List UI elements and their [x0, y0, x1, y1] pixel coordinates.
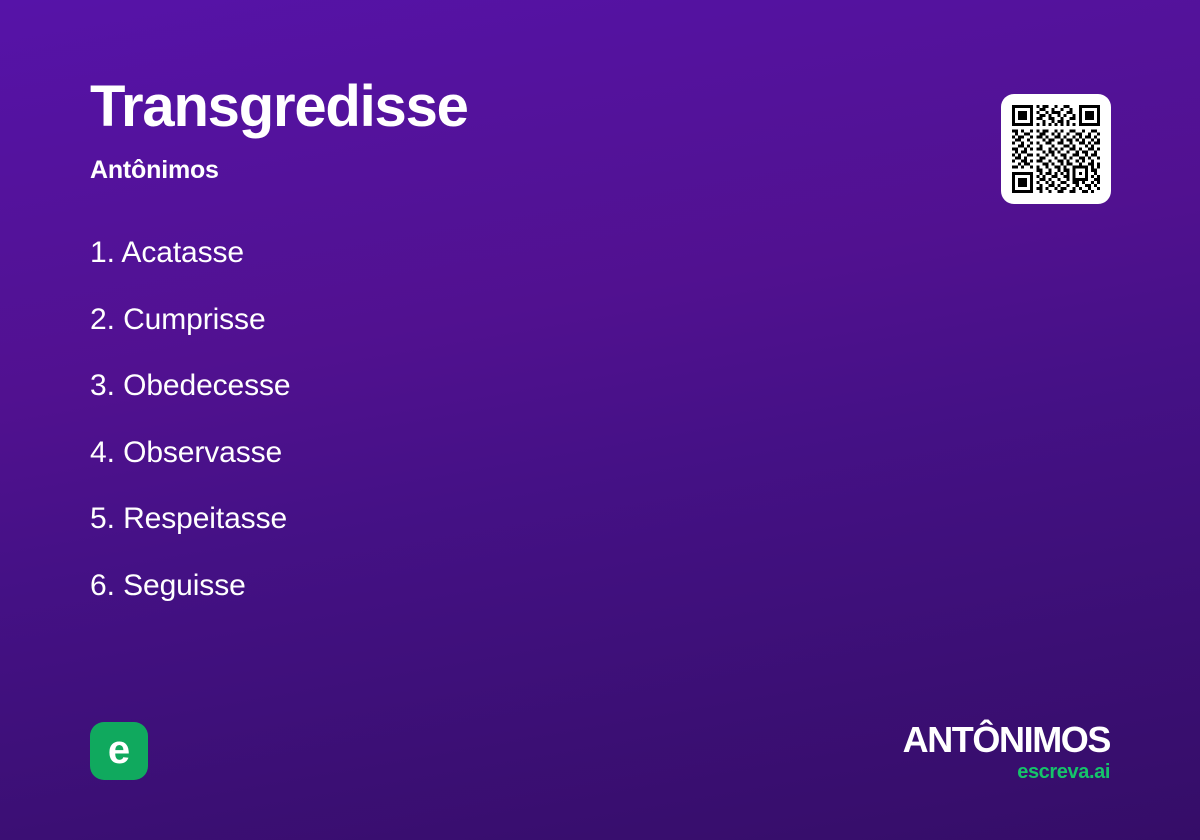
antonyms-card: Transgredisse Antônimos	[0, 0, 1200, 840]
page-subtitle: Antônimos	[90, 158, 950, 183]
footer-brand-domain: escreva.ai	[903, 762, 1110, 782]
list-item-word: Respeitasse	[123, 502, 287, 535]
list-item: 2. Cumprisse	[90, 305, 950, 372]
escreva-logo-letter: e	[90, 722, 148, 780]
list-item: 4. Observasse	[90, 438, 950, 505]
list-item-index: 4.	[90, 436, 115, 469]
header-block: Transgredisse Antônimos	[90, 78, 950, 183]
escreva-logo-icon[interactable]: e	[90, 722, 148, 780]
list-item-index: 2.	[90, 303, 115, 336]
list-item-word: Acatasse	[121, 236, 244, 269]
page-title: Transgredisse	[90, 78, 950, 136]
list-item: 1. Acatasse	[90, 238, 950, 305]
antonyms-list: 1. Acatasse 2. Cumprisse 3. Obedecesse 4…	[90, 238, 950, 637]
list-item-index: 6.	[90, 569, 115, 602]
list-item-word: Observasse	[123, 436, 282, 469]
list-item-index: 3.	[90, 369, 115, 402]
list-item: 3. Obedecesse	[90, 371, 950, 438]
footer-brand-name: ANTÔNIMOS	[903, 722, 1110, 758]
qr-code-panel[interactable]	[1001, 94, 1111, 204]
list-item-word: Obedecesse	[123, 369, 290, 402]
qr-code-icon	[1012, 105, 1100, 193]
list-item-word: Cumprisse	[123, 303, 265, 336]
list-item-index: 5.	[90, 502, 115, 535]
list-item: 6. Seguisse	[90, 571, 950, 638]
list-item: 5. Respeitasse	[90, 504, 950, 571]
list-item-index: 1.	[90, 236, 115, 269]
list-item-word: Seguisse	[123, 569, 246, 602]
footer-brand: ANTÔNIMOS escreva.ai	[903, 722, 1110, 782]
